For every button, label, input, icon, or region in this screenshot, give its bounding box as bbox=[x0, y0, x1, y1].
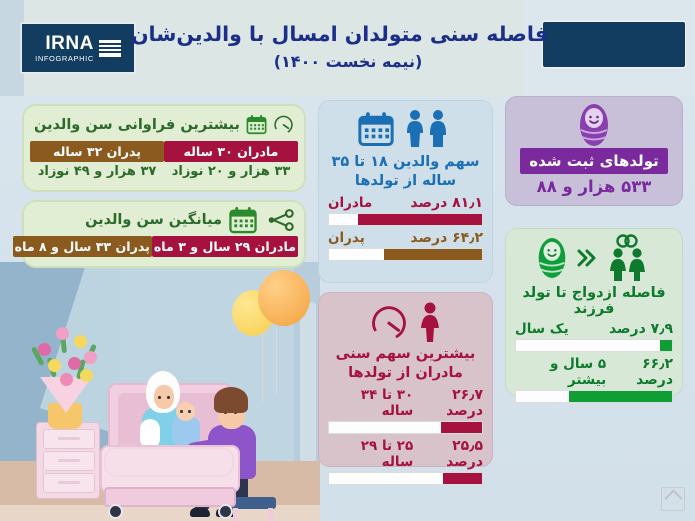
infographic-page: IRNA INFOGRAPHIC فاصله سنی متولدان امسال… bbox=[0, 0, 695, 521]
stat-percent: ۸۱٫۱ درصد bbox=[410, 195, 483, 211]
irna-tagline: INFOGRAPHIC bbox=[35, 55, 94, 63]
balloon-orange bbox=[258, 270, 310, 326]
scissors-icon bbox=[264, 207, 294, 234]
band-fathers-average-age: پدران ۳۳ سال و ۸ ماه bbox=[13, 236, 152, 257]
card-title-line1: بیشترین سهم سنی bbox=[319, 345, 492, 364]
card-title-line2: مادران از تولدها bbox=[319, 364, 492, 383]
card-title: فاصله ازدواج تا تولد فرزند bbox=[506, 285, 682, 317]
woman-icon bbox=[417, 301, 443, 343]
hospital-maternity-illustration bbox=[0, 262, 320, 521]
stat-five-plus: ۶۶٫۲ درصد ۵ سال و بیشتر bbox=[506, 352, 682, 403]
band-mothers-average-age: مادران ۲۹ سال و ۳ ماه bbox=[152, 236, 298, 257]
stat-30-34: ۲۶٫۷ درصد ۳۰ تا ۳۴ ساله bbox=[319, 383, 492, 434]
calendar-icon bbox=[246, 110, 267, 139]
band-fathers-age: پدران ۳۲ ساله bbox=[30, 141, 164, 162]
flower-bouquet bbox=[32, 317, 102, 389]
stat-mothers: ۸۱٫۱ درصد مادران bbox=[319, 191, 492, 226]
card-title-line2: ساله از تولدها bbox=[319, 172, 492, 191]
page-title-block: فاصله سنی متولدان امسال با والدین‌شان (ن… bbox=[148, 22, 548, 71]
balloon-string bbox=[262, 324, 263, 402]
card-header: میانگین سن والدین bbox=[24, 202, 304, 236]
progress-bar-mothers bbox=[328, 213, 483, 226]
card-mothers-age-share[interactable]: بیشترین سهم سنی مادران از تولدها ۲۶٫۷ در… bbox=[318, 292, 493, 467]
irna-wordmark: IRNA bbox=[45, 34, 93, 53]
card-icons bbox=[319, 293, 492, 343]
card-title-line1: سهم والدین ۱۸ تا ۳۵ bbox=[319, 153, 492, 172]
card-header: بیشترین فراوانی سن والدین bbox=[24, 106, 304, 141]
gauge-icon bbox=[273, 110, 294, 139]
stat-label: ۵ سال و بیشتر bbox=[515, 356, 606, 388]
couple-rings-icon bbox=[603, 234, 655, 282]
stat-one-year: ۷٫۹ درصد یک سال bbox=[506, 317, 682, 352]
column-mothers: مادران ۲۹ سال و ۳ ماه bbox=[152, 236, 298, 257]
card-columns: مادران ۲۹ سال و ۳ ماه پدران ۳۳ سال و ۸ م… bbox=[24, 236, 304, 262]
calendar-icon bbox=[228, 206, 258, 234]
irna-logo[interactable]: IRNA INFOGRAPHIC bbox=[22, 24, 134, 72]
card-icons bbox=[319, 101, 492, 149]
baby-head bbox=[176, 402, 195, 421]
progress-bar-fathers bbox=[328, 248, 483, 261]
stat-label: پدران bbox=[328, 230, 365, 246]
stat-percent: ۷٫۹ درصد bbox=[609, 321, 673, 337]
stat-fathers: ۶۴٫۲ درصد پدران bbox=[319, 226, 492, 261]
page-subtitle: (نیمه نخست ۱۴۰۰) bbox=[148, 52, 548, 71]
stat-label: ۳۰ تا ۳۴ ساله bbox=[328, 387, 413, 419]
hospital-bed-base bbox=[104, 487, 236, 507]
header-left-strip bbox=[0, 0, 24, 96]
swaddled-baby-icon bbox=[574, 102, 614, 148]
stat-label: مادران bbox=[328, 195, 372, 211]
balloon-string bbox=[276, 314, 277, 396]
stat-percent: ۲۶٫۷ درصد bbox=[413, 387, 483, 419]
card-title: بیشترین فراوانی سن والدین bbox=[34, 117, 240, 133]
card-parents-18-35[interactable]: سهم والدین ۱۸ تا ۳۵ ساله از تولدها ۸۱٫۱ … bbox=[318, 100, 493, 283]
card-title: بیشترین سهم سنی مادران از تولدها bbox=[319, 345, 492, 383]
value-mothers-births: ۳۳ هزار و ۲۰ نوزاد bbox=[164, 164, 298, 179]
baby-body bbox=[172, 417, 200, 445]
chevrons-icon bbox=[576, 247, 598, 269]
stat-label: یک سال bbox=[515, 321, 569, 337]
column-fathers: پدران ۳۲ ساله ۳۷ هزار و ۴۹ نوزاد bbox=[30, 141, 164, 179]
stat-label: ۲۵ تا ۲۹ ساله bbox=[328, 438, 413, 470]
card-average-age[interactable]: میانگین سن والدین مادران ۲۹ سال و ۳ ماه … bbox=[22, 200, 306, 268]
page-title: فاصله سنی متولدان امسال با والدین‌شان bbox=[148, 22, 548, 48]
header-right-bar bbox=[543, 22, 685, 67]
stat-percent: ۶۶٫۲ درصد bbox=[606, 356, 673, 388]
father-shoe bbox=[190, 508, 210, 517]
swaddled-baby-icon bbox=[533, 235, 571, 281]
stat-percent: ۲۵٫۵ درصد bbox=[413, 438, 483, 470]
progress-bar-one-year bbox=[515, 339, 673, 352]
mother-face bbox=[154, 385, 174, 409]
card-most-frequent-age[interactable]: بیشترین فراوانی سن والدین مادران ۳۰ ساله… bbox=[22, 104, 306, 192]
column-mothers: مادران ۳۰ ساله ۳۳ هزار و ۲۰ نوزاد bbox=[164, 141, 298, 179]
card-registered-births[interactable]: تولدهای ثبت شده ۵۳۳ هزار و ۸۸ bbox=[505, 96, 683, 206]
progress-bar-five-plus bbox=[515, 390, 673, 403]
bed-wheel bbox=[218, 504, 233, 519]
column-fathers: پدران ۳۳ سال و ۸ ماه bbox=[13, 236, 152, 257]
couple-icon bbox=[402, 109, 454, 149]
father-hair bbox=[214, 387, 248, 413]
card-title: تولدهای ثبت شده bbox=[520, 148, 668, 174]
gauge-icon bbox=[368, 303, 410, 341]
progress-bar-30-34 bbox=[328, 421, 483, 434]
irna-mark-icon bbox=[99, 40, 121, 57]
value-fathers-births: ۳۷ هزار و ۴۹ نوزاد bbox=[30, 164, 164, 179]
card-columns: مادران ۳۰ ساله ۳۳ هزار و ۲۰ نوزاد پدران … bbox=[24, 141, 304, 184]
stat-percent: ۶۴٫۲ درصد bbox=[410, 230, 483, 246]
watermark-icon bbox=[661, 487, 685, 511]
stat-25-29: ۲۵٫۵ درصد ۲۵ تا ۲۹ ساله bbox=[319, 434, 492, 485]
band-mothers-age: مادران ۳۰ ساله bbox=[164, 141, 298, 162]
hospital-bed-rail bbox=[104, 447, 234, 477]
bed-wheel bbox=[108, 504, 123, 519]
card-title: میانگین سن والدین bbox=[85, 212, 222, 228]
father-stool bbox=[230, 497, 276, 509]
registered-births-value: ۵۳۳ هزار و ۸۸ bbox=[506, 177, 682, 196]
card-marriage-to-birth[interactable]: فاصله ازدواج تا تولد فرزند ۷٫۹ درصد یک س… bbox=[505, 228, 683, 396]
card-title: سهم والدین ۱۸ تا ۳۵ ساله از تولدها bbox=[319, 153, 492, 191]
progress-bar-25-29 bbox=[328, 472, 483, 485]
calendar-icon bbox=[357, 111, 395, 147]
nightstand bbox=[36, 422, 100, 499]
